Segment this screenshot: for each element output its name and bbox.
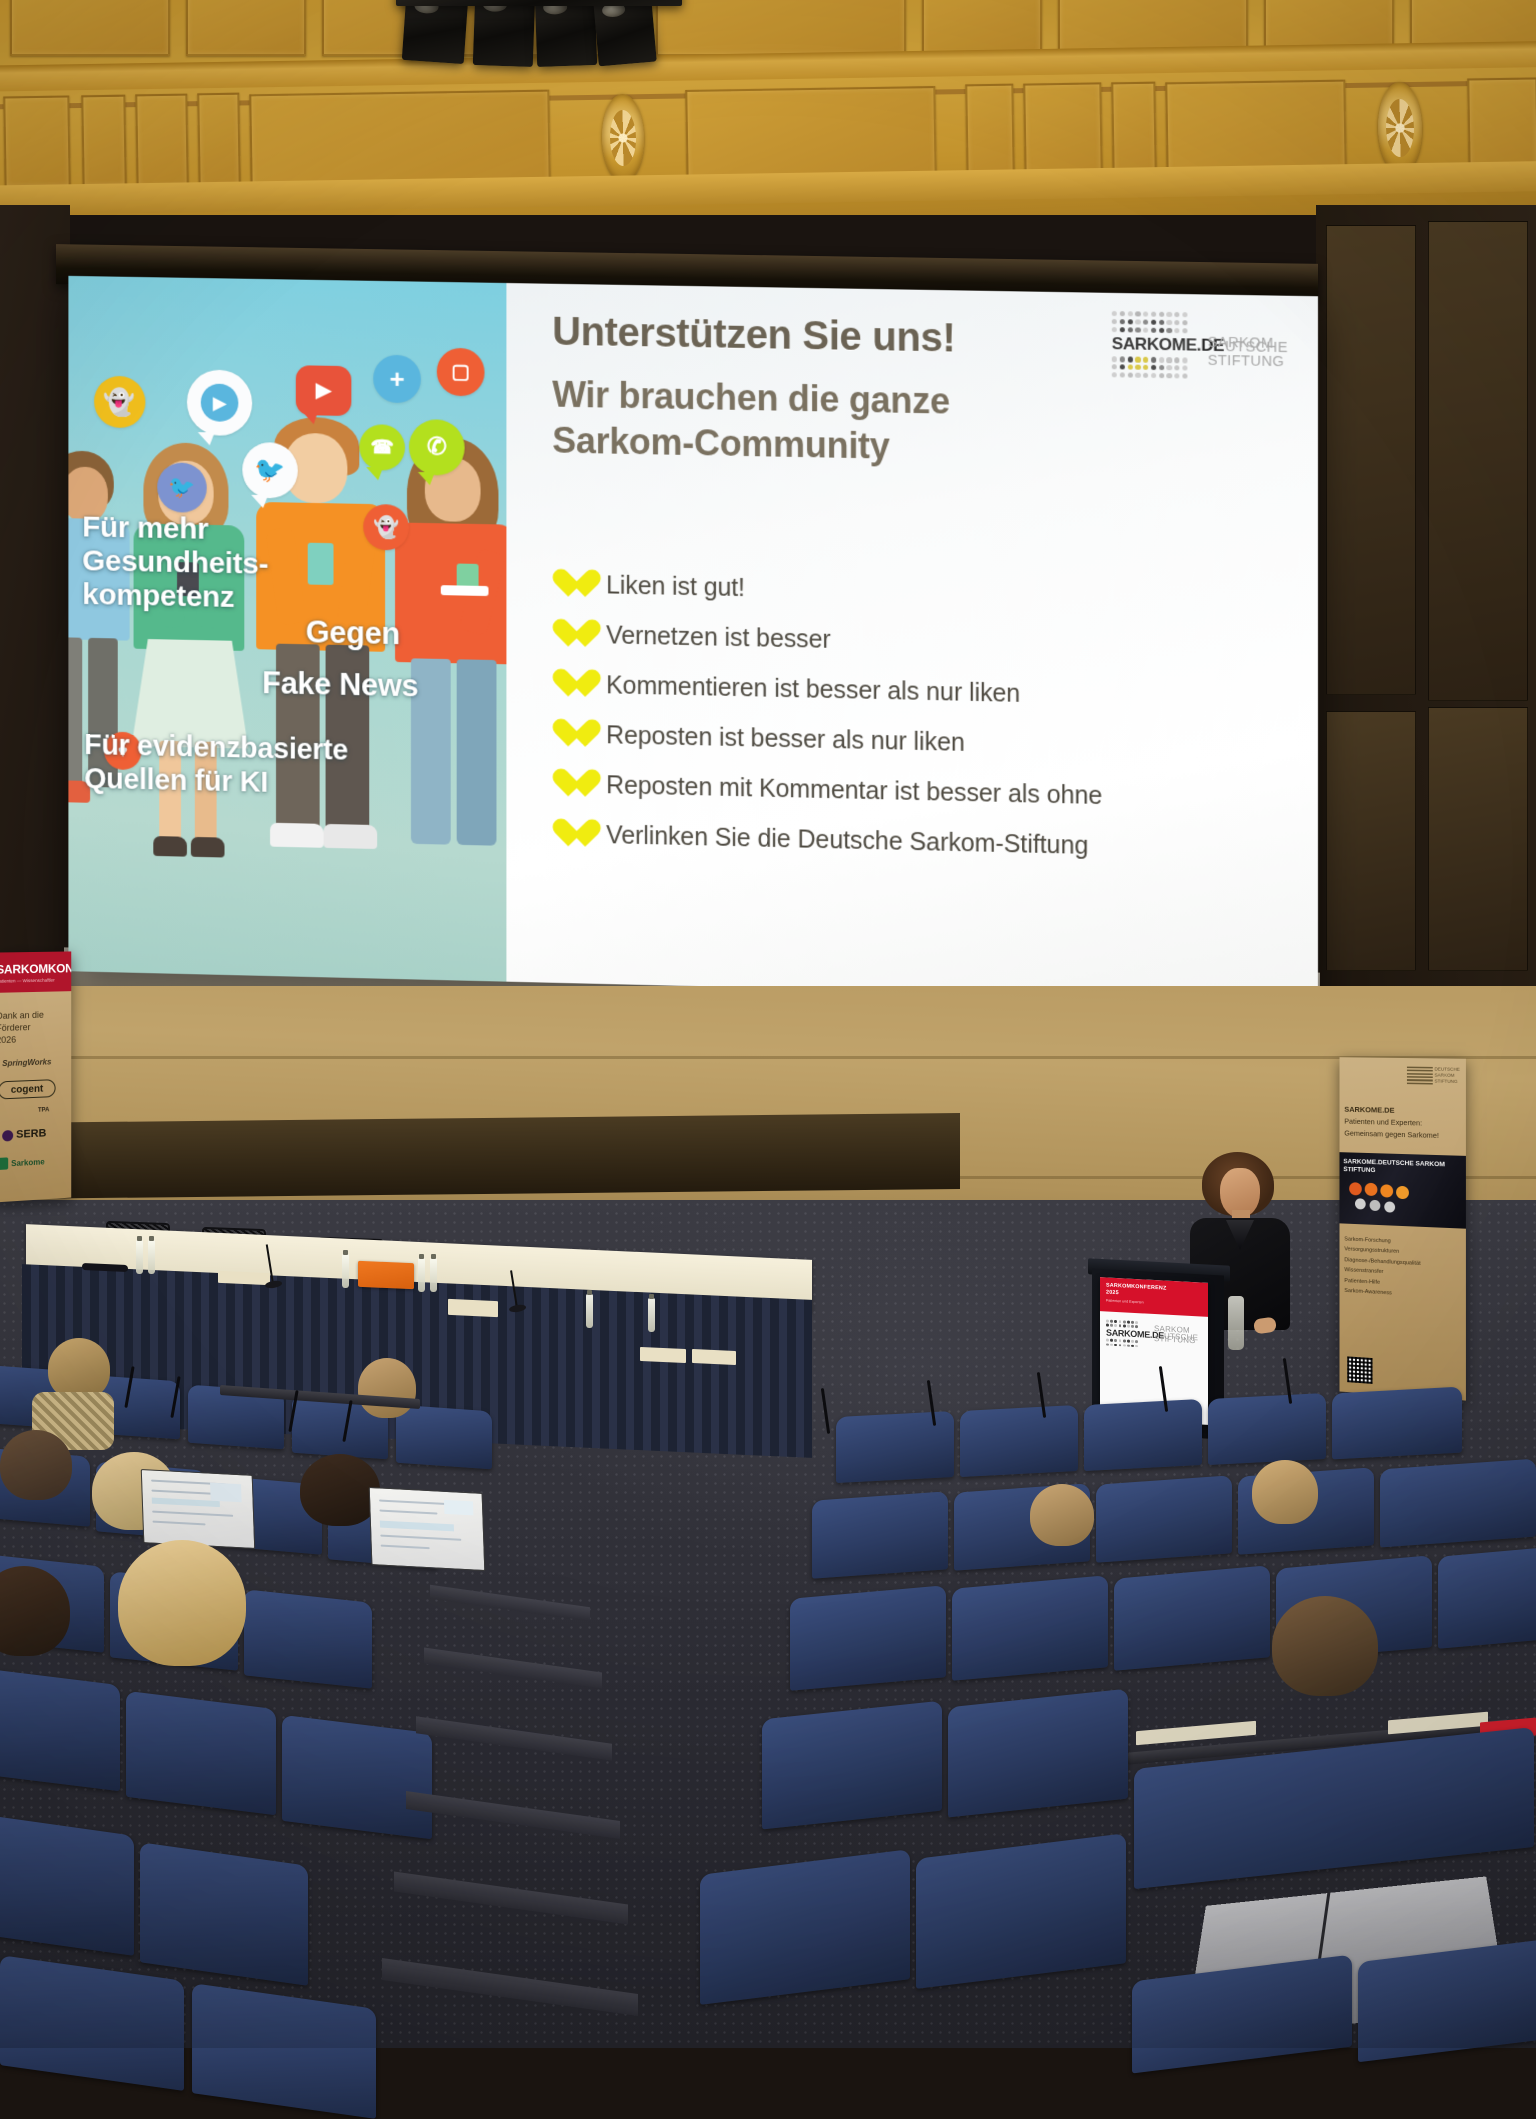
podium-logo-line3: STIFTUNG xyxy=(1154,1334,1196,1346)
banner-list-item: Sarkom-Awareness xyxy=(1344,1287,1420,1299)
seat xyxy=(396,1405,492,1470)
overlay-text-2-line2: Fake News xyxy=(262,667,418,702)
bullet-text: Reposten mit Kommentar ist besser als oh… xyxy=(606,771,1102,811)
qr-code xyxy=(1347,1356,1372,1384)
banner-left-thanks-2: Förderer xyxy=(0,1022,31,1033)
phone-icon: ☎ xyxy=(359,424,405,471)
sponsor-logo-sarkome: Sarkome xyxy=(0,1155,45,1170)
stage-light-1 xyxy=(402,0,468,64)
slide-heading-block: Unterstützen Sie uns! Wir brauchen die g… xyxy=(552,310,1293,477)
seat xyxy=(1084,1399,1202,1471)
podium-red-header: SARKOMKONFERENZ 2025 Patienten und Exper… xyxy=(1100,1277,1208,1317)
sponsor-logo-springworks: SpringWorks xyxy=(2,1057,51,1068)
seat xyxy=(1114,1565,1270,1671)
overlay-text-1-line3: kompetenz xyxy=(82,580,234,613)
water-bottle xyxy=(648,1298,655,1332)
orange-folder xyxy=(358,1261,414,1290)
bullet-text: Vernetzen ist besser xyxy=(606,621,831,655)
bullet-item: Verlinken Sie die Deutsche Sarkom-Stiftu… xyxy=(552,819,1308,866)
seat xyxy=(1208,1393,1326,1465)
seat xyxy=(0,1667,120,1791)
sponsor-logo-cogent: cogent xyxy=(0,1079,56,1099)
banner-left-thanks-3: 2026 xyxy=(0,1035,16,1046)
seat xyxy=(952,1575,1108,1681)
podium-water-bottle xyxy=(1228,1296,1244,1350)
seat xyxy=(916,1833,1126,1989)
seat xyxy=(282,1715,432,1839)
seat xyxy=(0,1812,134,1956)
bullet-text: Liken ist gut! xyxy=(606,571,745,603)
seat xyxy=(1380,1459,1536,1548)
sponsor-logo-sarkome-label: Sarkome xyxy=(11,1157,44,1168)
bullet-text: Reposten ist besser als nur liken xyxy=(606,721,965,758)
heart-bullet-icon xyxy=(552,819,585,850)
attendee-head xyxy=(48,1338,110,1400)
stage-light-2 xyxy=(473,0,535,67)
overlay-text-2-line1: Gegen xyxy=(306,616,400,649)
laptop-screen xyxy=(369,1487,486,1571)
snapchat-icon: 👻 xyxy=(94,376,145,429)
seat xyxy=(244,1589,372,1688)
sponsor-logo-serb-label: SERB xyxy=(16,1127,46,1141)
bullet-item: Reposten mit Kommentar ist besser als oh… xyxy=(552,769,1308,815)
stage-light-bar xyxy=(396,0,682,6)
banner-right-logo: DEUTSCHESARKOMSTIFTUNG xyxy=(1407,1066,1460,1085)
seat xyxy=(948,1689,1128,1818)
seat xyxy=(700,1849,910,2005)
banner-right-heading: SARKOME.DE xyxy=(1344,1105,1394,1115)
attendee-head xyxy=(1272,1596,1378,1696)
bullet-item: Reposten ist besser als nur liken xyxy=(552,719,1308,765)
seat xyxy=(1096,1475,1232,1563)
water-bottle xyxy=(136,1240,143,1274)
bullet-item: Vernetzen ist besser xyxy=(552,619,1308,664)
auditorium-scene: 👻 ▶ ▶ + ▢ 🐦 🐦 ☎ xyxy=(0,0,1536,2048)
banner-right-image: SARKOME.DEUTSCHE SARKOM STIFTUNG xyxy=(1339,1152,1465,1229)
handout-paper xyxy=(692,1349,736,1365)
twitter-bird-icon-2: 🐦 xyxy=(157,462,206,513)
heart-bullet-icon xyxy=(552,569,585,600)
illustration-person-4 xyxy=(391,437,506,869)
handout-paper xyxy=(448,1299,498,1317)
laptop-screen xyxy=(141,1469,256,1549)
heart-bullet-icon xyxy=(552,619,585,650)
ceiling-rosette-right xyxy=(1377,82,1422,175)
water-bottle xyxy=(586,1294,593,1328)
heart-bullet-icon xyxy=(552,719,585,750)
projection-screen: 👻 ▶ ▶ + ▢ 🐦 🐦 ☎ xyxy=(68,276,1318,1001)
bullet-text: Kommentieren ist besser als nur liken xyxy=(606,671,1020,709)
snapchat-icon-2: 👻 xyxy=(363,504,409,551)
stage-light-4 xyxy=(593,0,657,66)
instagram-icon: ▢ xyxy=(437,348,485,397)
seat xyxy=(1438,1547,1536,1649)
bullet-item: Liken ist gut! xyxy=(552,569,1308,614)
handout-paper xyxy=(218,1271,270,1285)
seat xyxy=(812,1491,948,1579)
slide-content: SARKOME . DE UTSCHE xyxy=(506,283,1318,1001)
attendee-head xyxy=(118,1540,246,1666)
sponsor-logo-cogent-label: cogent xyxy=(11,1083,43,1095)
seat xyxy=(126,1691,276,1815)
banner-right-line2: Gemeinsam gegen Sarkome! xyxy=(1344,1129,1439,1140)
overlay-text-1-line2: Gesundheits- xyxy=(82,546,268,580)
banner-right-image-caption: SARKOME.DEUTSCHE SARKOM STIFTUNG xyxy=(1343,1158,1452,1178)
seat xyxy=(762,1701,942,1830)
youtube-play-icon: ▶ xyxy=(296,365,352,416)
whatsapp-icon: ✆ xyxy=(409,419,465,476)
seat xyxy=(140,1842,308,1986)
water-bottle xyxy=(342,1254,349,1288)
seat xyxy=(960,1405,1078,1477)
video-play-icon: ▶ xyxy=(187,369,252,436)
handout-paper xyxy=(640,1347,686,1363)
attendee-head xyxy=(358,1358,416,1418)
banner-right-line1: Patienten und Experten: xyxy=(1344,1117,1422,1128)
banner-left-thanks-1: Dank an die xyxy=(0,1010,44,1021)
sponsor-banner-left: SARKOMKONFERENZ Patienten — Wissenschaft… xyxy=(0,951,71,1202)
slide-bullet-list: Liken ist gut! Vernetzen ist besser Komm… xyxy=(552,569,1308,886)
water-bottle xyxy=(418,1258,425,1292)
seat xyxy=(836,1411,954,1483)
attendee-head xyxy=(1252,1460,1318,1524)
sponsor-logo-serb: SERB xyxy=(2,1127,46,1141)
attendee-head xyxy=(0,1430,72,1500)
banner-left-heading: SARKOMKONFERENZ xyxy=(0,951,71,976)
bullet-text: Verlinken Sie die Deutsche Sarkom-Stiftu… xyxy=(606,821,1088,861)
plus-icon: + xyxy=(373,355,421,404)
podium-logo-lines: SARKOM STIFTUNG xyxy=(1154,1324,1196,1346)
attendee-head xyxy=(1030,1484,1094,1546)
speaker-hand xyxy=(1253,1317,1277,1335)
stage-light-3 xyxy=(535,0,597,67)
overlay-text-3-line2: Quellen für KI xyxy=(84,765,268,798)
wall-dark-band xyxy=(0,1113,960,1199)
overlay-text-1-line1: Für mehr xyxy=(82,513,208,546)
ornate-ceiling xyxy=(0,0,1536,215)
seat xyxy=(790,1585,946,1691)
sarkome-banner-right: DEUTSCHESARKOMSTIFTUNG SARKOME.DE Patien… xyxy=(1339,1057,1465,1400)
banner-left-sub: Patienten — Wissenschaftler xyxy=(0,975,71,984)
banner-right-list: Sarkom-Forschung Versorgungsstrukturen D… xyxy=(1344,1235,1420,1301)
twitter-bird-icon: 🐦 xyxy=(242,442,297,499)
water-bottle xyxy=(430,1258,437,1292)
heart-bullet-icon xyxy=(552,769,585,800)
bullet-item: Kommentieren ist besser als nur liken xyxy=(552,669,1308,715)
slide-illustration: 👻 ▶ ▶ + ▢ 🐦 🐦 ☎ xyxy=(68,276,506,982)
ceiling-rosette-left xyxy=(601,94,644,183)
seat xyxy=(1332,1387,1462,1460)
heart-bullet-icon xyxy=(552,669,585,700)
sponsor-logo-tpa: TPA xyxy=(38,1107,49,1114)
water-bottle xyxy=(148,1240,155,1274)
overlay-text-3-line1: Für evidenzbasierte xyxy=(84,731,348,766)
